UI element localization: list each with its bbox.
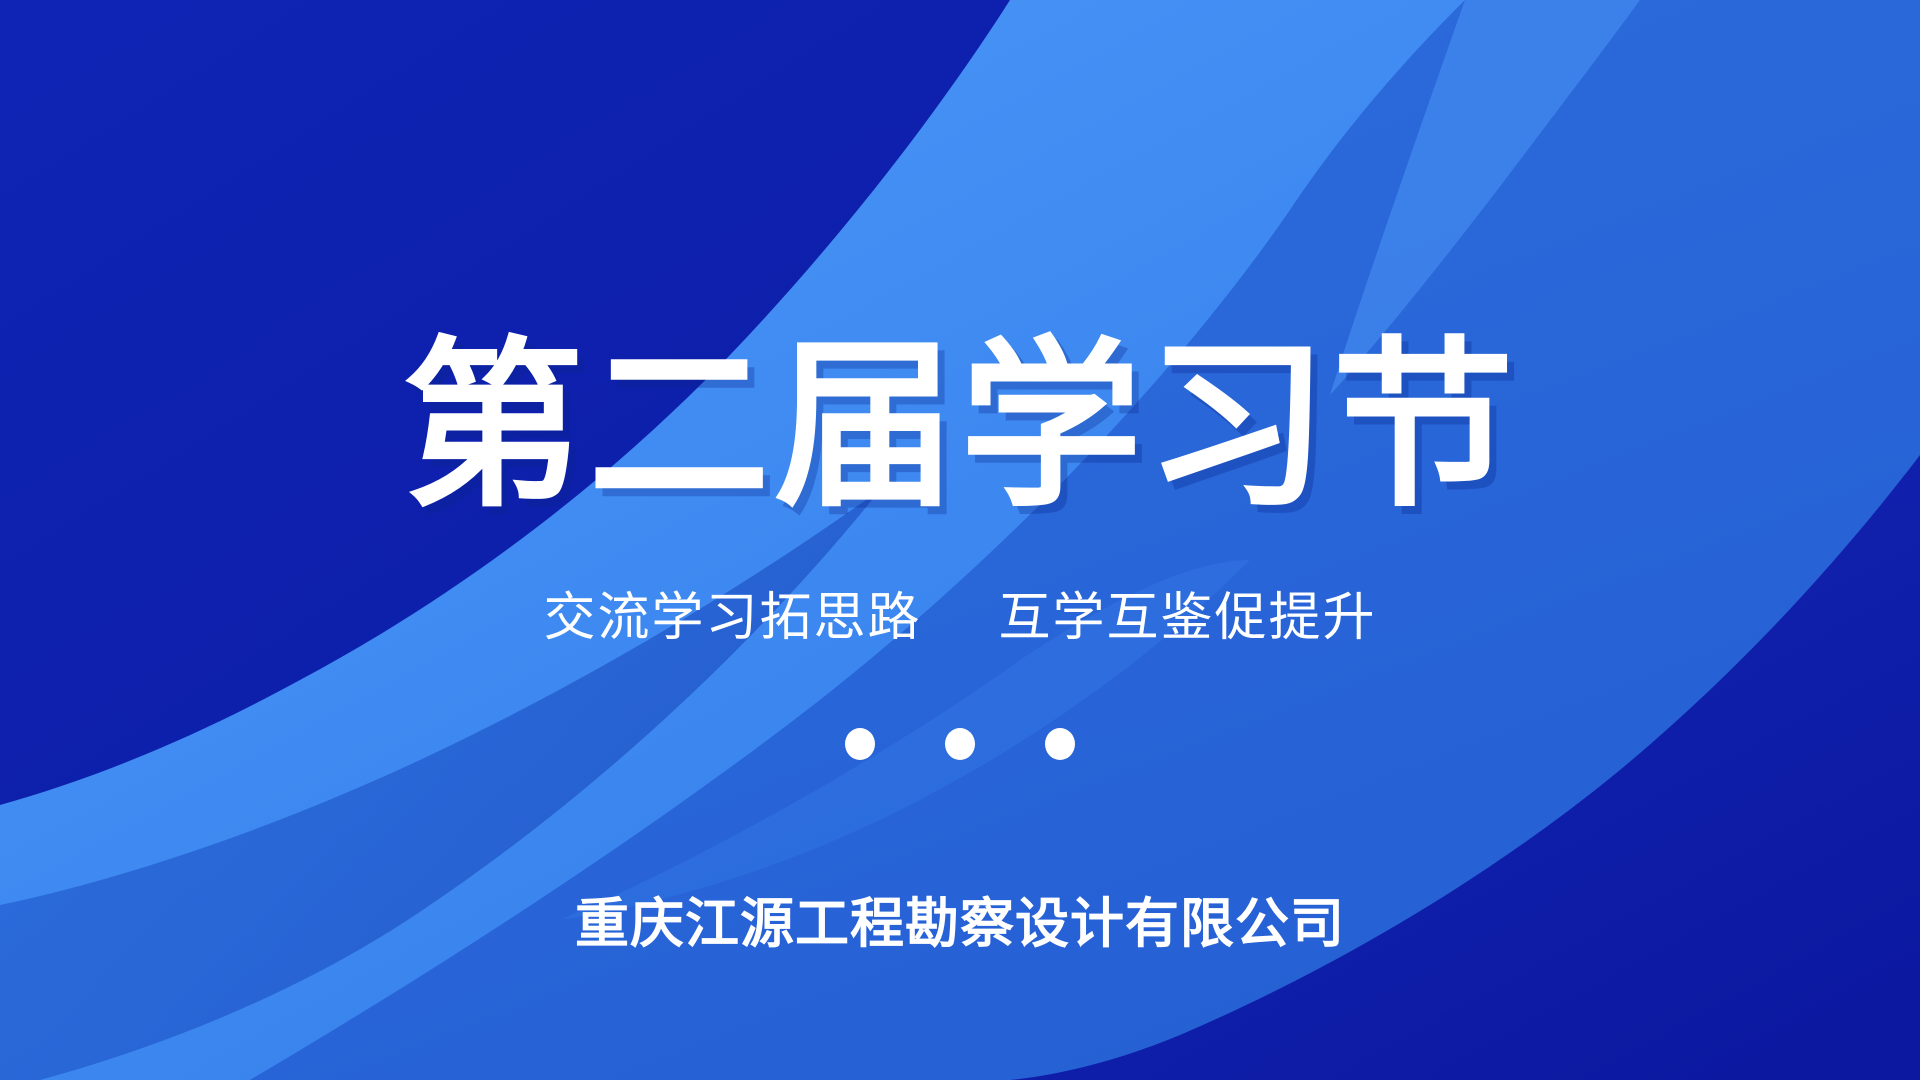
poster-content: 第二届学习节 交流学习拓思路 互学互鉴促提升 重庆江源工程勘察设计有限公司 [0, 0, 1920, 1080]
poster-subtitle-right: 互学互鉴促提升 [998, 592, 1376, 644]
title-block: 第二届学习节 [0, 330, 1920, 523]
dot-icon-3 [1045, 728, 1075, 760]
subtitle-block: 交流学习拓思路 互学互鉴促提升 [0, 592, 1920, 644]
poster-canvas: 第二届学习节 交流学习拓思路 互学互鉴促提升 重庆江源工程勘察设计有限公司 [0, 0, 1920, 1080]
poster-subtitle-left: 交流学习拓思路 [544, 592, 922, 644]
dot-icon-1 [845, 728, 875, 760]
poster-main-title: 第二届学习节 [402, 330, 1518, 523]
three-dots-divider [0, 728, 1920, 760]
organization-name: 重庆江源工程勘察设计有限公司 [575, 897, 1345, 951]
dot-icon-2 [945, 728, 975, 760]
organization-block: 重庆江源工程勘察设计有限公司 [0, 897, 1920, 951]
